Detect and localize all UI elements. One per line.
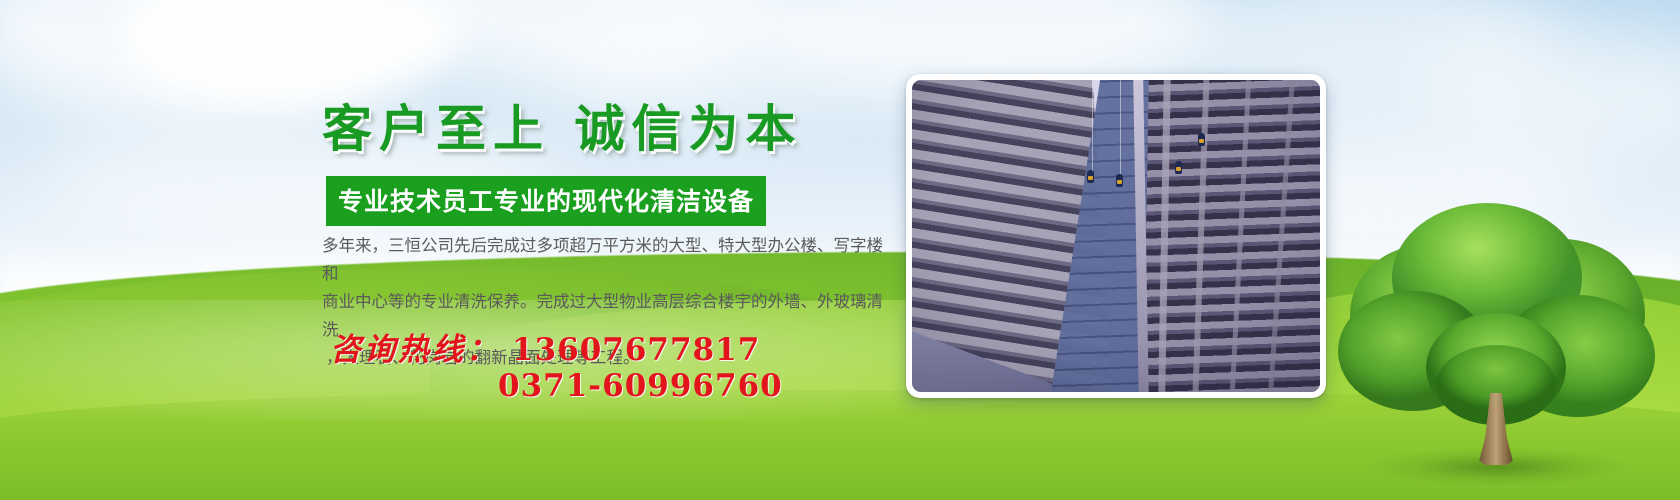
- body-line: 多年来，三恒公司先后完成过多项超万平方米的大型、特大型办公楼、写字楼和: [322, 232, 890, 288]
- secondary-phone-number[interactable]: 0371-60996760: [498, 368, 783, 404]
- promo-banner: 客户至上 诚信为本 专业技术员工专业的现代化清洁设备 多年来，三恒公司先后完成过…: [0, 0, 1680, 500]
- hotline-row: 咨询热线：13607677817: [330, 324, 760, 369]
- building-photo: [912, 80, 1320, 392]
- headline: 客户至上 诚信为本: [322, 104, 882, 154]
- hotline-number[interactable]: 13607677817: [512, 332, 760, 368]
- tree-illustration: [1330, 195, 1660, 475]
- subtitle-text: 专业技术员工专业的现代化清洁设备: [338, 187, 754, 216]
- subtitle-bar: 专业技术员工专业的现代化清洁设备: [326, 176, 766, 226]
- hotline-label: 咨询热线：: [330, 332, 500, 368]
- photo-vignette: [912, 80, 1320, 392]
- building-photo-frame[interactable]: [906, 74, 1326, 398]
